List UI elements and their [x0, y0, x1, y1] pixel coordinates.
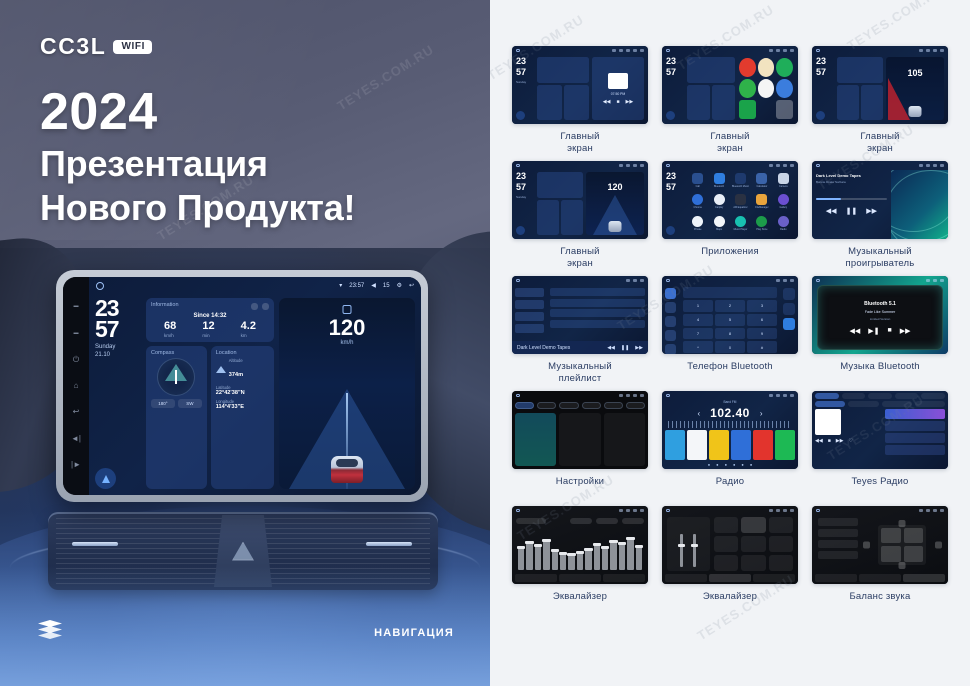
- favorite-icon[interactable]: ♡: [848, 438, 852, 444]
- playlist-rows[interactable]: [547, 285, 648, 341]
- tab-effects[interactable]: [709, 574, 751, 582]
- speaker-layout[interactable]: [878, 525, 926, 565]
- station-controls[interactable]: ◀◀ ■ ▶▶ ♡: [815, 438, 882, 444]
- filter-rock[interactable]: [882, 401, 912, 407]
- mini-screen: [512, 506, 648, 584]
- app-tile[interactable]: Radio: [775, 216, 792, 234]
- location-card[interactable]: [561, 200, 583, 235]
- compass-card[interactable]: [537, 200, 559, 235]
- effect-slider-2[interactable]: [693, 534, 696, 567]
- tab-apps[interactable]: [582, 402, 601, 409]
- prev-icon[interactable]: ◀◀: [849, 327, 860, 335]
- media-widget[interactable]: 07:50 PM ◀◀■▶▶: [592, 57, 644, 120]
- power-key[interactable]: ⏻: [73, 356, 79, 364]
- status-clock: 23:57: [349, 283, 364, 289]
- radio-presets[interactable]: [662, 430, 798, 460]
- preset-tile[interactable]: [769, 536, 793, 552]
- preset-tile[interactable]: [741, 536, 765, 552]
- app-tile[interactable]: Bluetooth: [710, 173, 727, 191]
- sidebar-item-favorites[interactable]: [515, 312, 544, 321]
- navigation-launch-button[interactable]: [516, 226, 525, 235]
- equalizer-effects-body: [662, 515, 798, 574]
- playlist-item[interactable]: [550, 299, 645, 307]
- dial-key-7[interactable]: 7: [683, 328, 713, 340]
- eq-band[interactable]: [543, 539, 549, 570]
- filter-all[interactable]: [815, 401, 845, 407]
- balance-down-button[interactable]: [899, 562, 906, 569]
- setting-card-wlan[interactable]: [515, 413, 556, 466]
- gallery-cell[interactable]: Баланс звука: [812, 506, 948, 615]
- thumb-sound-balance[interactable]: [812, 506, 948, 584]
- information-card[interactable]: [687, 57, 735, 83]
- teyes-radio-filters[interactable]: [812, 401, 948, 409]
- tab-eq[interactable]: [665, 574, 707, 582]
- volume-icon: [783, 49, 787, 52]
- eq-band[interactable]: [577, 551, 583, 570]
- preset-6[interactable]: [775, 430, 795, 460]
- next-icon[interactable]: ▶▶: [626, 99, 634, 105]
- call-button[interactable]: [783, 318, 795, 330]
- station-item[interactable]: [885, 433, 945, 443]
- prev-icon[interactable]: ◀◀: [815, 438, 823, 444]
- speaker-front-left[interactable]: [881, 528, 901, 544]
- wifi-icon: [626, 279, 630, 282]
- status-right-group: ▾ 23:57 ◀ 15 ⚙ ↩: [339, 282, 414, 289]
- caption: Эквалайзер: [553, 591, 607, 615]
- balance-pad[interactable]: [863, 518, 942, 571]
- thumb-equalizer-sliders[interactable]: [512, 506, 648, 584]
- effect-sliders[interactable]: [667, 517, 710, 571]
- player-controls[interactable]: ◀◀ ❚❚ ▶▶: [816, 207, 887, 215]
- balance-left-button[interactable]: [863, 541, 870, 548]
- back-button[interactable]: [666, 226, 675, 235]
- dial-key-0[interactable]: 0: [715, 341, 745, 353]
- progress-bar[interactable]: [816, 198, 887, 200]
- sidebar-item-all[interactable]: [515, 300, 544, 309]
- thumb-home-apps[interactable]: 23 57: [662, 46, 798, 124]
- dial-key-hash[interactable]: #: [747, 341, 777, 353]
- app-icon-chrome[interactable]: [758, 79, 775, 98]
- thumb-bluetooth-music[interactable]: Bluetooth 5.1 Fade Like Summer Limited V…: [812, 276, 948, 354]
- tab-system[interactable]: [626, 402, 645, 409]
- preset-driver[interactable]: [818, 518, 858, 526]
- eq-band[interactable]: [610, 540, 616, 570]
- gallery-cell[interactable]: ◀◀ ■ ▶▶ ♡: [812, 391, 948, 500]
- filter-news[interactable]: [915, 401, 945, 407]
- speed-navigation-widget[interactable]: 120: [586, 172, 644, 235]
- app-label: Carplay: [715, 206, 723, 209]
- app-tile[interactable]: Chrome: [689, 194, 706, 212]
- eq-icon[interactable]: ●: [733, 462, 735, 467]
- information-card[interactable]: [537, 172, 583, 198]
- tab-live[interactable]: [815, 393, 839, 399]
- compass-card[interactable]: [837, 85, 859, 120]
- chrome-icon: [692, 194, 703, 205]
- app-label: Chrome: [693, 206, 702, 209]
- dial-key-6[interactable]: 6: [747, 314, 777, 326]
- clock-icon: [633, 279, 637, 282]
- trip-stat-distance: 4.2 km: [241, 321, 256, 338]
- eq-band[interactable]: [627, 537, 633, 570]
- search-tab-icon[interactable]: [665, 316, 676, 327]
- speed-navigation-widget[interactable]: 105: [886, 57, 944, 120]
- gallery-cell[interactable]: Эквалайзер: [662, 506, 798, 615]
- thumb-home-speed-red[interactable]: 23 57: [812, 46, 948, 124]
- balance-up-button[interactable]: [899, 520, 906, 527]
- preset-save[interactable]: [622, 518, 644, 524]
- volume-down-key[interactable]: ━: [74, 303, 79, 311]
- settings-tab-icon[interactable]: [665, 344, 676, 354]
- app-icon-spotify[interactable]: [739, 79, 756, 98]
- app-icon-youtube[interactable]: [739, 58, 756, 77]
- eq-band[interactable]: [602, 546, 608, 570]
- stop-icon[interactable]: ■: [888, 327, 892, 335]
- preset-rear[interactable]: [818, 540, 858, 548]
- navigation-launch-button[interactable]: [816, 111, 825, 120]
- navigation-launch-button[interactable]: [666, 111, 675, 120]
- stop-icon[interactable]: ■: [616, 99, 619, 105]
- balance-presets[interactable]: [818, 518, 858, 571]
- dial-key-4[interactable]: 4: [683, 314, 713, 326]
- eq-band[interactable]: [535, 544, 541, 570]
- scan-icon[interactable]: ●: [716, 462, 718, 467]
- trip-distance-value: 4.2: [241, 321, 256, 332]
- vent-slider-right[interactable]: [366, 542, 412, 546]
- preset-name[interactable]: [516, 518, 546, 524]
- compass-card[interactable]: [687, 85, 710, 120]
- thumb-radio[interactable]: Band FM ‹ 102.40 ›: [662, 391, 798, 469]
- preset-tile[interactable]: [769, 555, 793, 571]
- call-log-tab-icon[interactable]: [665, 330, 676, 341]
- equalizer-tab-bar[interactable]: [512, 574, 648, 584]
- playlist-item[interactable]: [550, 309, 645, 317]
- stop-icon[interactable]: ■: [828, 438, 831, 444]
- mini-screen: 23 57: [662, 46, 798, 124]
- app-tile[interactable]: Bluetooth Music: [732, 173, 749, 191]
- gallery-cell[interactable]: Настройки: [512, 391, 648, 500]
- navigation-launch-button[interactable]: [516, 111, 525, 120]
- app-tile[interactable]: Gallery: [775, 194, 792, 212]
- settings-icon[interactable]: ●: [750, 462, 752, 467]
- app-tile[interactable]: FileManager: [753, 194, 770, 212]
- phone-actions[interactable]: [779, 285, 798, 354]
- preset-4[interactable]: [731, 430, 751, 460]
- backspace-icon[interactable]: [783, 303, 795, 315]
- eq-band[interactable]: [568, 553, 574, 570]
- location-card[interactable]: Location Altitude 374m: [211, 346, 274, 489]
- wifi-icon: [612, 49, 616, 52]
- bt-controls[interactable]: ◀◀ ▶❚ ■ ▶▶: [849, 327, 910, 335]
- settings-tab-bar[interactable]: [512, 400, 648, 411]
- sidebar-item-tracks[interactable]: [515, 288, 544, 297]
- mini-screen: ◀◀ ■ ▶▶ ♡: [812, 391, 948, 469]
- filter-pop[interactable]: [848, 401, 878, 407]
- dial-area: 123 456 789 *0#: [681, 285, 779, 354]
- dial-key-5[interactable]: 5: [715, 314, 745, 326]
- station-item[interactable]: [885, 421, 945, 431]
- maps-icon: [714, 216, 725, 227]
- information-actions[interactable]: [251, 303, 269, 310]
- eq-band[interactable]: [526, 541, 532, 570]
- tab-stations[interactable]: [842, 393, 866, 399]
- home-icon: [666, 279, 670, 283]
- contacts-tab-icon[interactable]: [665, 302, 676, 313]
- preset-2[interactable]: [687, 430, 707, 460]
- app-tile[interactable]: Maps: [710, 216, 727, 234]
- settings-icon[interactable]: ⚙: [397, 282, 402, 289]
- band-icon[interactable]: ●: [708, 462, 710, 467]
- next-icon[interactable]: ▶▶: [836, 438, 844, 444]
- tab-search[interactable]: [921, 393, 945, 399]
- eq-band[interactable]: [619, 542, 625, 570]
- gallery-cell[interactable]: 23 57: [662, 46, 798, 155]
- thumb-home-media[interactable]: 23 57 Sunday: [512, 46, 648, 124]
- eq-band[interactable]: [594, 543, 600, 570]
- tab-storage[interactable]: [604, 402, 623, 409]
- head-unit-device: ━ ━ ⏻ ⌂ ↩ ◄| |► ▾ 23:57: [56, 270, 428, 502]
- headline-line-1: Презентация: [40, 144, 355, 184]
- eq-band[interactable]: [636, 545, 642, 570]
- next-station-icon[interactable]: ›: [760, 409, 763, 418]
- prev-icon[interactable]: ◀◀: [826, 207, 837, 215]
- tab-effects[interactable]: [859, 574, 901, 582]
- tab-balance[interactable]: [559, 574, 601, 582]
- tab-genres[interactable]: [868, 393, 892, 399]
- back-key[interactable]: ↩: [73, 408, 80, 416]
- tab-balance[interactable]: [903, 574, 945, 582]
- app-label: Radio: [780, 228, 786, 231]
- next-track-key[interactable]: |►: [71, 461, 81, 469]
- gallery-cell[interactable]: Dark Level Demo Tapes Bonnie Drake Sorba…: [812, 161, 948, 270]
- compass-card[interactable]: [537, 85, 562, 120]
- prev-track-key[interactable]: ◄|: [71, 435, 81, 443]
- play-pause-icon[interactable]: ▶❚: [868, 327, 879, 335]
- tab-fader[interactable]: [753, 574, 795, 582]
- frequency-scale[interactable]: [668, 421, 792, 428]
- gallery-cell[interactable]: 23 57 Call Bluetooth Bluetooth Music Cal…: [662, 161, 798, 270]
- status-icons: [769, 49, 794, 52]
- playlist-sidebar[interactable]: [512, 285, 547, 341]
- calculator-icon: [756, 173, 767, 184]
- app-tile[interactable]: Calculator: [753, 173, 770, 191]
- preset-reset[interactable]: [596, 518, 618, 524]
- thumb-bluetooth-phone[interactable]: 123 456 789 *0#: [662, 276, 798, 354]
- headline-year: 2024: [40, 85, 355, 140]
- thumb-teyes-radio[interactable]: ◀◀ ■ ▶▶ ♡: [812, 391, 948, 469]
- tab-eq[interactable]: [515, 574, 557, 582]
- location-card[interactable]: [861, 85, 883, 120]
- wifi-icon: [769, 164, 773, 167]
- tab-sound[interactable]: [537, 402, 556, 409]
- prev-icon[interactable]: ◀◀: [607, 345, 615, 351]
- loc-icon[interactable]: ●: [741, 462, 743, 467]
- speaker-rear-left[interactable]: [881, 546, 901, 562]
- dial-key-2[interactable]: 2: [715, 300, 745, 312]
- app-icon-playstore[interactable]: [739, 100, 756, 119]
- tab-display[interactable]: [559, 402, 578, 409]
- settings-icon: [790, 49, 794, 52]
- home-icon[interactable]: [96, 282, 104, 290]
- gallery-cell[interactable]: Band FM ‹ 102.40 ›: [662, 391, 798, 500]
- layers-icon[interactable]: [38, 620, 62, 640]
- app-tile[interactable]: Private: [689, 216, 706, 234]
- preset-all[interactable]: [818, 551, 858, 559]
- preset-front[interactable]: [818, 529, 858, 537]
- prev-icon[interactable]: ◀◀: [603, 99, 611, 105]
- app-icon-maps[interactable]: [776, 58, 793, 77]
- radio-tuner[interactable]: ‹ 102.40 ›: [662, 404, 798, 420]
- preset-3[interactable]: [709, 430, 729, 460]
- gallery-cell[interactable]: 23 57 Sunday: [512, 46, 648, 155]
- dial-key-star[interactable]: *: [683, 341, 713, 353]
- favorite-star-icon[interactable]: [783, 288, 795, 300]
- preset-tile[interactable]: [714, 555, 738, 571]
- app-icon-all-apps[interactable]: [776, 100, 793, 119]
- app-tile[interactable]: Carplay: [710, 194, 727, 212]
- app-tile[interactable]: AM Equalizer: [732, 194, 749, 212]
- home-key[interactable]: ⌂: [74, 382, 79, 390]
- dialpad-tab-icon[interactable]: [665, 288, 676, 299]
- tab-eq[interactable]: [815, 574, 857, 582]
- navigation-launch-button[interactable]: [95, 468, 116, 489]
- preset-tile[interactable]: [714, 517, 738, 533]
- thumb-home-speed[interactable]: 23 57 Sunday: [512, 161, 648, 239]
- caption: Настройки: [556, 476, 604, 500]
- gallery-cell[interactable]: Bluetooth 5.1 Fade Like Summer Limited V…: [812, 276, 948, 385]
- gallery-cell[interactable]: 123 456 789 *0#: [662, 276, 798, 385]
- preset-tile[interactable]: [769, 517, 793, 533]
- equalizer-band-sliders[interactable]: [512, 526, 648, 574]
- eq-band[interactable]: [552, 549, 558, 570]
- dial-key-3[interactable]: 3: [747, 300, 777, 312]
- preset-tile-selected[interactable]: [741, 517, 765, 533]
- app-tile[interactable]: Call: [689, 173, 706, 191]
- eq-band[interactable]: [560, 552, 566, 570]
- gallery-cell[interactable]: Эквалайзер: [512, 506, 648, 615]
- equalizer-tab-bar[interactable]: [812, 574, 948, 584]
- app-tile[interactable]: Music Player: [732, 216, 749, 234]
- preset-prev[interactable]: [570, 518, 592, 524]
- mini-clock-m: 57: [516, 68, 534, 77]
- mini-clock-col: 23 57: [816, 57, 834, 120]
- status-icons: [619, 164, 644, 167]
- location-card[interactable]: [564, 85, 589, 120]
- dial-key-1[interactable]: 1: [683, 300, 713, 312]
- speaker-rear-right[interactable]: [904, 546, 924, 562]
- information-card[interactable]: [837, 57, 883, 83]
- playlist-item[interactable]: [550, 320, 645, 328]
- thumb-music-player[interactable]: Dark Level Demo Tapes Bonnie Drake Sorba…: [812, 161, 948, 239]
- preset-tile[interactable]: [714, 536, 738, 552]
- preset-5[interactable]: [753, 430, 773, 460]
- equalizer-tab-bar[interactable]: [662, 574, 798, 584]
- effect-slider-1[interactable]: [680, 534, 683, 567]
- prev-station-icon[interactable]: ‹: [697, 409, 700, 418]
- info-action-1[interactable]: [251, 303, 258, 310]
- back-icon[interactable]: ↩: [409, 282, 414, 289]
- next-icon[interactable]: ▶▶: [635, 345, 643, 351]
- effect-preset-grid[interactable]: [714, 517, 793, 571]
- setting-card-more[interactable]: [604, 413, 645, 466]
- gallery-cell[interactable]: Dark Level Demo Tapes ◀◀ ❚❚ ▶▶ Музыкальн…: [512, 276, 648, 385]
- app-label: Camera: [779, 185, 788, 188]
- volume-up-key[interactable]: ━: [74, 330, 79, 338]
- mini-info-col: [537, 57, 589, 120]
- mini-info-col: [687, 57, 735, 120]
- app-shortcut-grid[interactable]: [738, 57, 794, 120]
- compass-card[interactable]: Compass 180° SW: [146, 346, 207, 489]
- list-icon[interactable]: ●: [725, 462, 727, 467]
- dial-key-9[interactable]: 9: [747, 328, 777, 340]
- app-tile[interactable]: Play Store: [753, 216, 770, 234]
- layer-bottom: [38, 632, 62, 639]
- app-tile[interactable]: Camera: [775, 173, 792, 191]
- location-altitude-row: Altitude 374m: [216, 358, 269, 381]
- gallery-cell[interactable]: 23 57: [812, 46, 948, 155]
- phone-sidebar[interactable]: [662, 285, 681, 354]
- eq-band[interactable]: [518, 546, 524, 570]
- application-grid[interactable]: Call Bluetooth Bluetooth Music Calculato…: [687, 172, 794, 235]
- mini-clock-col: 23 57: [666, 172, 684, 235]
- next-icon[interactable]: ▶▶: [866, 207, 877, 215]
- info-action-2[interactable]: [262, 303, 269, 310]
- sidebar-item-folders[interactable]: [515, 324, 544, 333]
- next-icon[interactable]: ▶▶: [900, 327, 911, 335]
- eq-band[interactable]: [585, 548, 591, 570]
- thumb-apps[interactable]: 23 57 Call Bluetooth Bluetooth Music Cal…: [662, 161, 798, 239]
- speaker-front-right[interactable]: [904, 528, 924, 544]
- dial-key-8[interactable]: 8: [715, 328, 745, 340]
- clock-icon: [626, 509, 630, 512]
- bluetooth-music-card: Bluetooth 5.1 Fade Like Summer Limited V…: [817, 285, 943, 350]
- vent-slider-left[interactable]: [72, 542, 118, 546]
- information-card[interactable]: Information Since 14:32 68 km/h: [146, 298, 274, 342]
- playlist-player-bar[interactable]: Dark Level Demo Tapes ◀◀ ❚❚ ▶▶: [512, 341, 648, 354]
- tab-wlan[interactable]: [515, 402, 534, 409]
- balance-right-button[interactable]: [935, 541, 942, 548]
- information-card[interactable]: [537, 57, 589, 83]
- pause-icon[interactable]: ❚❚: [621, 345, 629, 351]
- teyes-radio-tabs[interactable]: [812, 391, 948, 401]
- station-item[interactable]: [885, 445, 945, 455]
- playlist-item[interactable]: [550, 288, 645, 296]
- thumb-playlist[interactable]: Dark Level Demo Tapes ◀◀ ❚❚ ▶▶: [512, 276, 648, 354]
- equalizer-presets[interactable]: [512, 515, 648, 526]
- latitude-value: 22°42'38"N: [216, 390, 269, 396]
- thumb-equalizer-grid[interactable]: [662, 506, 798, 584]
- tab-favorites[interactable]: [895, 393, 919, 399]
- pause-icon[interactable]: ❚❚: [846, 207, 858, 215]
- thumb-settings[interactable]: [512, 391, 648, 469]
- station-item-selected[interactable]: [885, 409, 945, 419]
- dial-pad[interactable]: 123 456 789 *0#: [681, 298, 779, 354]
- gallery-cell[interactable]: 23 57 Sunday: [512, 161, 648, 270]
- preset-tile[interactable]: [741, 555, 765, 571]
- app-icon-gallery[interactable]: [758, 58, 775, 77]
- media-controls[interactable]: ◀◀■▶▶: [603, 99, 633, 105]
- head-unit-screen[interactable]: ▾ 23:57 ◀ 15 ⚙ ↩ 23 57: [89, 277, 421, 495]
- setting-card-hotspot[interactable]: [559, 413, 600, 466]
- location-card[interactable]: [712, 85, 735, 120]
- settings-cards[interactable]: [512, 411, 648, 469]
- clock-widget[interactable]: 23 57 Sunday 21.10: [95, 298, 141, 489]
- speed-navigation-widget[interactable]: 120 km/h: [279, 298, 415, 489]
- app-icon-mail[interactable]: [776, 79, 793, 98]
- tab-fader[interactable]: [603, 574, 645, 582]
- station-list[interactable]: [885, 409, 945, 466]
- preset-1[interactable]: [665, 430, 685, 460]
- radio-toolbar[interactable]: ●● ●● ●●: [662, 460, 798, 469]
